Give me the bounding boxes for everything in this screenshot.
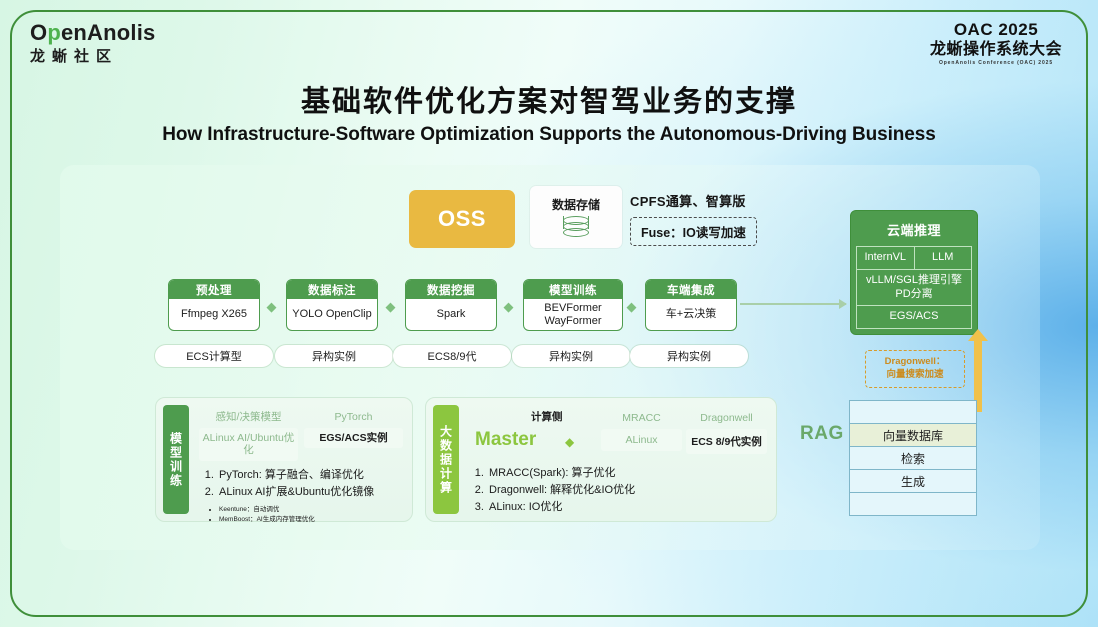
model-training-grid: 感知/决策模型 ALinux AI/Ubuntu优化 PyTorch EGS/A… [197, 405, 405, 461]
pipeline-arrow-4: ◆ [626, 301, 637, 312]
model-training-content: 感知/决策模型 ALinux AI/Ubuntu优化 PyTorch EGS/A… [197, 405, 405, 514]
data-storage-block: 数据存储 [530, 186, 622, 248]
logo-chinese-name: 龙蜥社区 [30, 49, 155, 64]
list-item: ALinux AI扩展&Ubuntu优化镜像 [217, 484, 405, 501]
rag-label: RAG [800, 423, 844, 445]
stage-body: Ffmpeg X265 [169, 299, 259, 330]
stage-title: 模型训练 [524, 280, 622, 299]
list-item: Keentune：自动调优 [219, 505, 405, 515]
rag-row-bottom [850, 493, 976, 515]
stage-title: 车端集成 [646, 280, 736, 299]
stage-body: Spark [406, 299, 496, 330]
training-cell-model: 感知/决策模型 [199, 407, 298, 428]
pipeline-stage-preprocess: 预处理 Ffmpeg X265 [168, 279, 260, 331]
pipeline-arrow-1: ◆ [266, 301, 277, 312]
conference-subtitle: OpenAnolis Conference (OAC) 2025 [930, 59, 1062, 67]
flow-arrow-to-cloud [740, 303, 846, 305]
list-item: MRACC(Spark): 算子优化 [487, 465, 769, 482]
fuse-callout: Fuse：IO读写加速 [630, 217, 757, 246]
cpfs-title: CPFS通算、智算版 [630, 191, 830, 210]
list-item: ALinux: IO优化 [487, 499, 769, 516]
database-icon [563, 216, 589, 238]
bigdata-cell-ecs: ECS 8/9代实例 [686, 429, 767, 454]
model-training-col-right: PyTorch EGS/ACS实例 [304, 407, 403, 461]
page-title-cn: 基础软件优化方案对智驾业务的支撑 [0, 78, 1098, 120]
pipeline-arrow-3: ◆ [503, 301, 514, 312]
model-training-panel: 模型训练 感知/决策模型 ALinux AI/Ubuntu优化 PyTorch … [155, 397, 413, 522]
bigdata-grid: 计算侧 Master ◆ MRACC ALinux Dragonwell ECS… [467, 405, 769, 459]
master-label: Master [475, 429, 536, 451]
stage-title: 数据挖掘 [406, 280, 496, 299]
bigdata-cell-alinux: ALinux [601, 429, 682, 451]
infra-pill-5: 异构实例 [630, 345, 748, 367]
logo-word-highlight: p [47, 20, 61, 45]
logo-word-pre: O [30, 20, 47, 45]
openanolis-logo: OpenAnolis 龙蜥社区 [30, 22, 155, 64]
cloud-engine-row: vLLM/SGL推理引擎 PD分离 [856, 269, 972, 306]
cloud-engine-label: vLLM/SGL推理引擎 PD分离 [857, 270, 971, 306]
logo-word-post: enAnolis [61, 20, 156, 45]
bigdata-col-mid: MRACC ALinux [601, 407, 682, 451]
stage-title: 预处理 [169, 280, 259, 299]
bigdata-list: MRACC(Spark): 算子优化 Dragonwell: 解释优化&IO优化… [467, 465, 769, 516]
rag-row-vector-db: 向量数据库 [850, 424, 976, 447]
cloud-model-internvl: InternVL [857, 247, 914, 269]
training-cell-os: ALinux AI/Ubuntu优化 [199, 428, 298, 461]
bigdata-compute-panel: 大数据计算 计算侧 Master ◆ MRACC ALinux Dragonwe… [425, 397, 777, 522]
infra-pill-1: ECS计算型 [155, 345, 273, 367]
model-training-fineprint: Keentune：自动调优 MemBoost：AI生成内存管理优化 [197, 505, 405, 525]
stage-title: 数据标注 [287, 280, 377, 299]
model-training-list: PyTorch: 算子融合、编译优化 ALinux AI扩展&Ubuntu优化镜… [197, 467, 405, 501]
conference-name-cn: 龙蜥操作系统大会 [930, 40, 1062, 60]
compute-side-label: 计算侧 [531, 409, 563, 424]
architecture-diagram: OSS 数据存储 CPFS通算、智算版 Fuse：IO读写加速 预处理 Ffmp… [60, 165, 1040, 550]
bigdata-master-group: 计算侧 Master ◆ [469, 407, 597, 459]
data-storage-label: 数据存储 [552, 196, 600, 213]
cloud-inference-title: 云端推理 [856, 216, 972, 246]
rag-row-top [850, 401, 976, 424]
infra-pill-2: 异构实例 [275, 345, 393, 367]
page-title-en: How Infrastructure-Software Optimization… [0, 124, 1098, 146]
training-cell-instance: EGS/ACS实例 [304, 428, 403, 449]
bigdata-side-label: 大数据计算 [433, 405, 459, 514]
infra-pill-3: ECS8/9代 [393, 345, 511, 367]
bigdata-cell-mracc: MRACC [601, 407, 682, 429]
conference-name-en: OAC 2025 [930, 20, 1062, 40]
logo-wordmark: OpenAnolis [30, 22, 155, 44]
rag-stack: 向量数据库 检索 生成 [849, 400, 977, 516]
bigdata-cell-dragonwell: Dragonwell [686, 407, 767, 429]
conference-branding: OAC 2025 龙蜥操作系统大会 OpenAnolis Conference … [930, 20, 1062, 67]
model-training-side-label: 模型训练 [163, 405, 189, 514]
infra-pill-4: 异构实例 [512, 345, 630, 367]
pipeline-stage-annotation: 数据标注 YOLO OpenClip [286, 279, 378, 331]
oss-block: OSS [409, 190, 515, 248]
cloud-inference-block: 云端推理 InternVL LLM vLLM/SGL推理引擎 PD分离 EGS/… [850, 210, 978, 335]
cloud-instance-row: EGS/ACS [856, 305, 972, 329]
cloud-model-llm: LLM [914, 247, 972, 269]
cloud-instance-label: EGS/ACS [857, 306, 971, 328]
model-training-col-left: 感知/决策模型 ALinux AI/Ubuntu优化 [199, 407, 298, 461]
pipeline-stage-vehicle-integration: 车端集成 车+云决策 [645, 279, 737, 331]
pipeline-stage-mining: 数据挖掘 Spark [405, 279, 497, 331]
stage-body: 车+云决策 [646, 299, 736, 330]
bigdata-content: 计算侧 Master ◆ MRACC ALinux Dragonwell ECS… [467, 405, 769, 514]
list-item: MemBoost：AI生成内存管理优化 [219, 515, 405, 525]
bigdata-col-right: Dragonwell ECS 8/9代实例 [686, 407, 767, 454]
cloud-models-row: InternVL LLM [856, 246, 972, 269]
bigdata-arrow: ◆ [565, 435, 574, 449]
stage-body: YOLO OpenClip [287, 299, 377, 330]
rag-row-generation: 生成 [850, 470, 976, 493]
cpfs-note: CPFS通算、智算版 Fuse：IO读写加速 [630, 191, 830, 246]
list-item: Dragonwell: 解释优化&IO优化 [487, 482, 769, 499]
stage-body: BEVFormer WayFormer [524, 299, 622, 330]
rag-row-retrieval: 检索 [850, 447, 976, 470]
dragonwell-callout: Dragonwell： 向量搜索加速 [865, 350, 965, 388]
training-cell-framework: PyTorch [304, 407, 403, 428]
pipeline-arrow-2: ◆ [385, 301, 396, 312]
slide-root: OpenAnolis 龙蜥社区 OAC 2025 龙蜥操作系统大会 OpenAn… [0, 0, 1098, 627]
pipeline-stage-training: 模型训练 BEVFormer WayFormer [523, 279, 623, 331]
list-item: PyTorch: 算子融合、编译优化 [217, 467, 405, 484]
